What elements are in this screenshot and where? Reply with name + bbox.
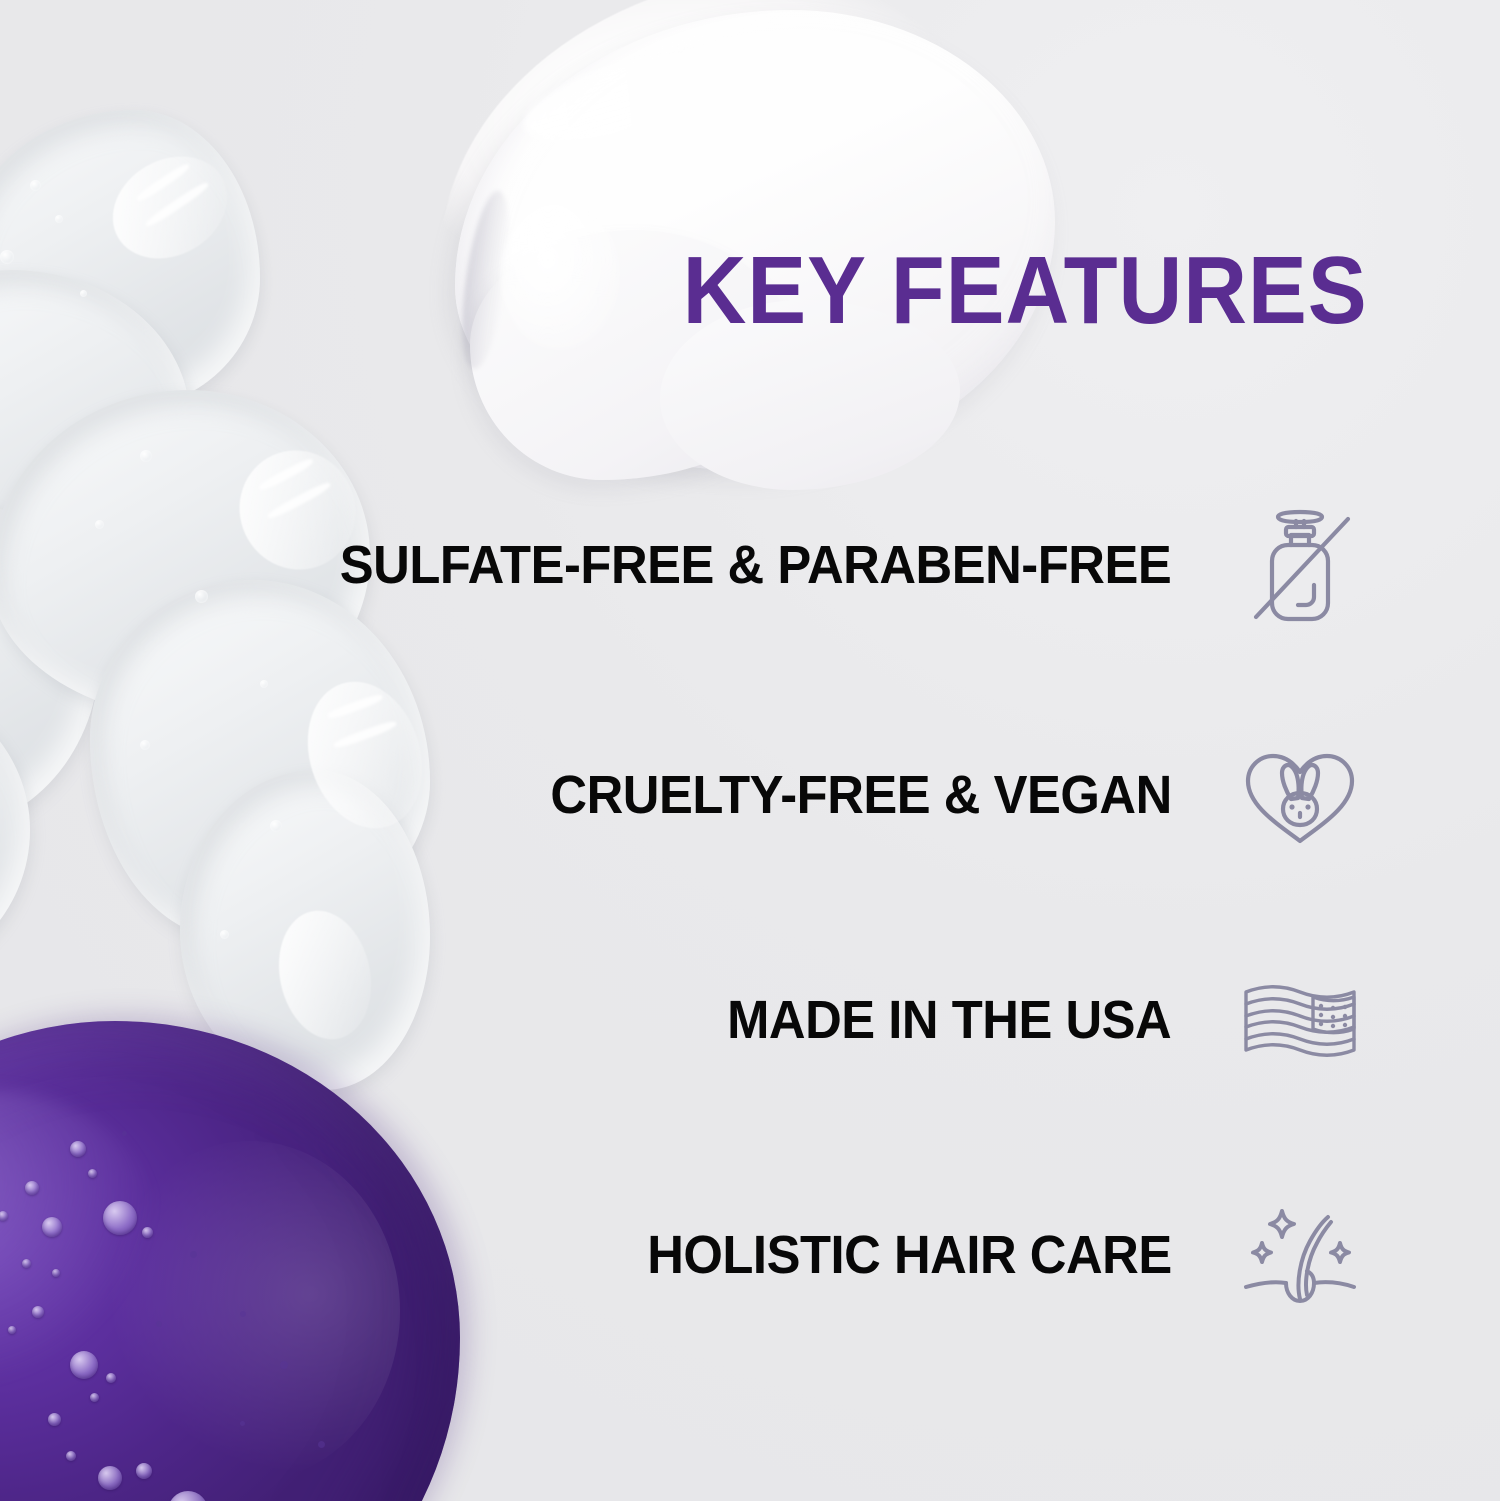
usa-flag-icon	[1230, 950, 1370, 1090]
hair-follicle-sparkle-icon	[1230, 1185, 1370, 1325]
feature-row: SULFATE-FREE & PARABEN-FREE	[250, 495, 1370, 635]
feature-row: MADE IN THE USA	[250, 950, 1370, 1090]
feature-label-sulfate-free: SULFATE-FREE & PARABEN-FREE	[340, 538, 1230, 592]
feature-row: HOLISTIC HAIR CARE	[250, 1185, 1370, 1325]
feature-label-cruelty-free: CRUELTY-FREE & VEGAN	[550, 768, 1230, 822]
no-pump-bottle-icon	[1230, 495, 1370, 635]
feature-label-made-in-usa: MADE IN THE USA	[728, 993, 1230, 1047]
page-title: KEY FEATURES	[683, 243, 1368, 339]
content-layer: KEY FEATURES SULFATE-FREE & PARABEN-FREE	[0, 0, 1500, 1501]
feature-row: CRUELTY-FREE & VEGAN	[250, 725, 1370, 865]
key-features-panel: KEY FEATURES SULFATE-FREE & PARABEN-FREE	[0, 0, 1500, 1501]
feature-label-holistic-hair-care: HOLISTIC HAIR CARE	[647, 1228, 1230, 1282]
bunny-in-heart-icon	[1230, 725, 1370, 865]
